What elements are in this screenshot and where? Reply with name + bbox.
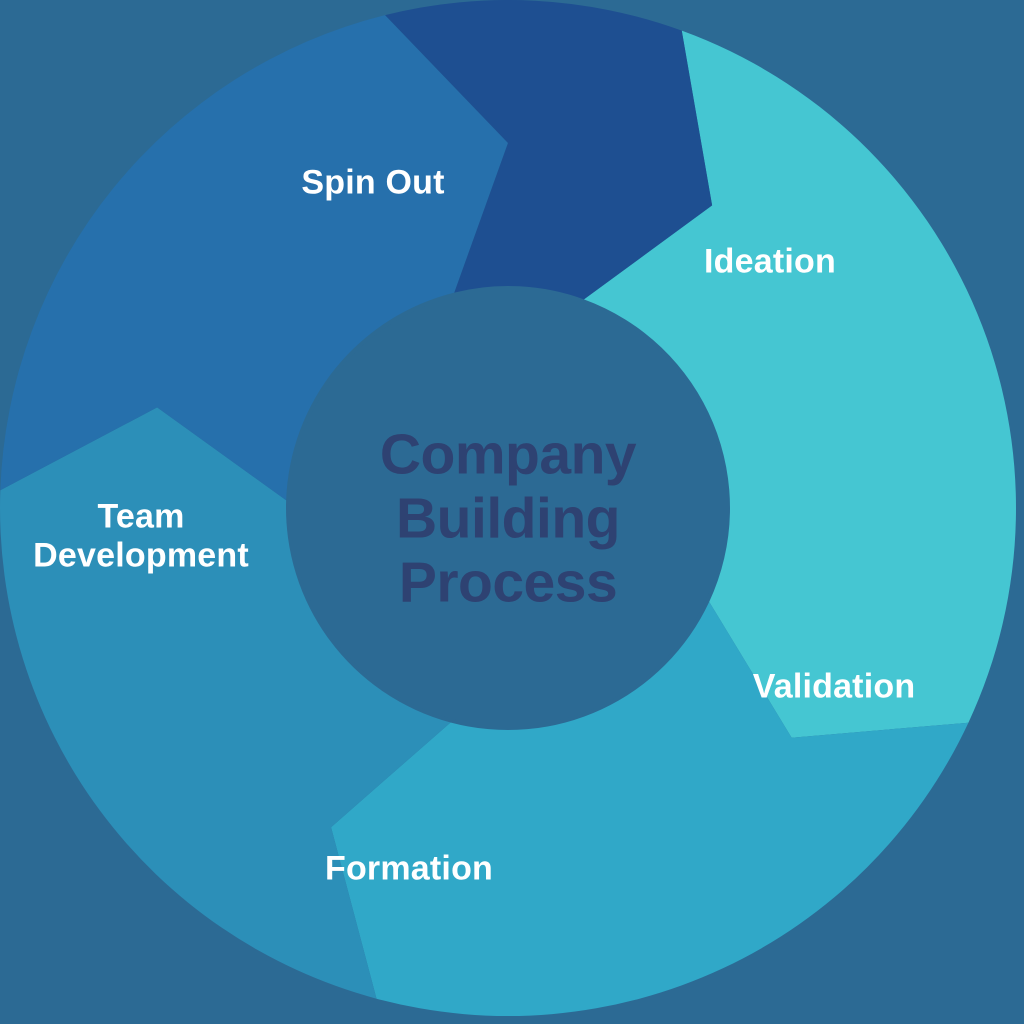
segment-label-team-development[interactable]: Team Development — [33, 498, 249, 577]
segment-label-spin-out[interactable]: Spin Out — [301, 163, 444, 202]
segment-label-formation[interactable]: Formation — [325, 849, 493, 888]
segment-label-validation[interactable]: Validation — [753, 667, 916, 706]
segment-label-ideation[interactable]: Ideation — [704, 242, 836, 281]
company-building-process-diagram: Ideation Validation Formation Team Devel… — [0, 0, 1024, 1024]
hub-title: Company Building Process — [318, 423, 698, 614]
hub-title-line-2: Building — [318, 487, 698, 551]
hub-title-line-1: Company — [318, 423, 698, 487]
hub-title-line-3: Process — [318, 551, 698, 615]
